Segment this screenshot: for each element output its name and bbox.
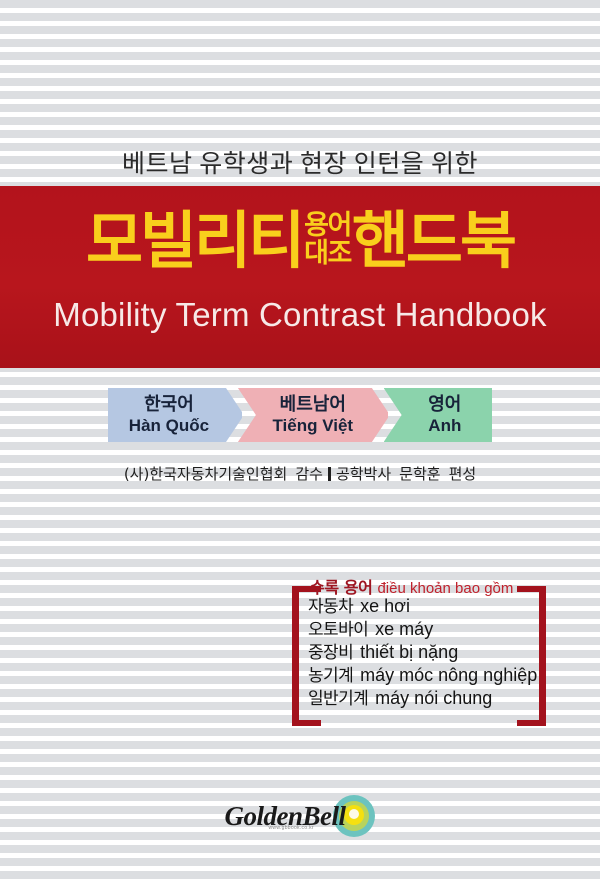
book-cover: 베트남 유학생과 현장 인턴을 위한 모빌리티용어대조핸드북 Mobility … [0,0,600,881]
term-item: 중장비thiết bị nặng [308,642,546,664]
publisher-logo-inner: GoldenBell www.gbbook.co.kr [225,794,376,838]
credit-separator [328,467,331,481]
language-chevron-english: 영어 Anh [384,388,492,442]
term-kr: 일반기계 [308,689,368,709]
title-kr-part2: 핸드북 [352,204,514,277]
term-kr: 자동차 [308,597,353,617]
term-vn: xe hơi [360,596,410,616]
language-english-latin: Anh [428,416,461,436]
language-korean-kr: 한국어 [144,395,194,416]
title-kr-stack-bottom: 대조 [304,240,351,268]
cover-top-subtitle: 베트남 유학생과 현장 인턴을 위한 [0,144,600,180]
term-vn: thiết bị nặng [360,642,458,662]
term-item: 일반기계máy nói chung [308,688,546,710]
credit-role-edit: 편성 [449,465,477,483]
title-english-subtitle: Mobility Term Contrast Handbook [0,296,600,334]
publisher-url: www.gbbook.co.kr [269,825,314,831]
language-korean-latin: Hàn Quốc [129,416,209,436]
terms-heading-kr: 수록 용어 [310,578,372,597]
credit-editor-name: 문학훈 [399,465,440,483]
term-item: 농기계máy móc nông nghiệp [308,665,546,687]
included-terms-box: 수록 용어điều khoản bao gồm 자동차xe hơi 오토바이xe… [292,578,546,722]
term-kr: 중장비 [308,643,353,663]
title-kr-stack-top: 용어 [304,212,351,240]
term-item: 자동차xe hơi [308,596,546,618]
language-chevron-row: 한국어 Hàn Quốc 베트남어 Tiếng Việt 영어 Anh [108,388,492,442]
title-band: 모빌리티용어대조핸드북 Mobility Term Contrast Handb… [0,186,600,368]
term-vn: máy móc nông nghiệp [360,665,537,685]
credit-editor-title: 공학박사 [336,465,391,483]
language-vietnamese-kr: 베트남어 [280,395,346,416]
term-kr: 오토바이 [308,620,368,640]
credit-organization: (사)한국자동차기술인협회 [124,465,288,483]
credit-role-review: 감수 [295,465,323,483]
language-english-kr: 영어 [428,395,461,416]
term-item: 오토바이xe máy [308,619,546,641]
language-vietnamese-latin: Tiếng Việt [272,416,353,436]
term-vn: xe máy [375,619,433,639]
language-chevron-korean: 한국어 Hàn Quốc [108,388,242,442]
term-vn: máy nói chung [375,688,492,708]
publisher-logo: GoldenBell www.gbbook.co.kr [0,790,600,842]
terms-list: 자동차xe hơi 오토바이xe máy 중장비thiết bị nặng 농기… [308,596,546,710]
title-kr-stack: 용어대조 [304,212,351,268]
language-chevron-vietnamese: 베트남어 Tiếng Việt [238,388,388,442]
term-kr: 농기계 [308,666,353,686]
credit-line: (사)한국자동차기술인협회감수공학박사문학훈편성 [0,463,600,484]
terms-box-heading: 수록 용어điều khoản bao gồm [310,574,513,598]
main-title: 모빌리티용어대조핸드북 [0,210,600,272]
terms-heading-vn: điều khoản bao gồm [377,580,513,597]
title-kr-part1: 모빌리티 [86,204,302,277]
